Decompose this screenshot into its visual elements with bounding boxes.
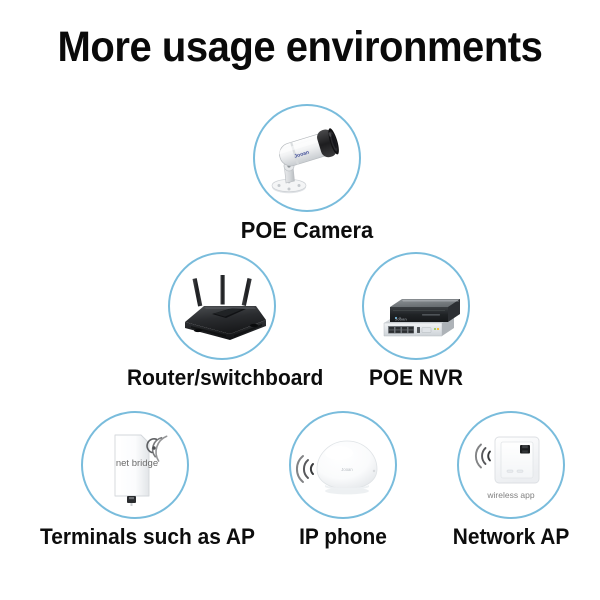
poe-nvr-circle: Jooan <box>362 252 470 360</box>
ip-phone-circle: Jooan <box>289 411 397 519</box>
poe-nvr-rack-icon: Jooan <box>362 252 470 360</box>
item-label: Terminals such as AP <box>40 525 230 548</box>
wifi-router-icon <box>168 252 276 360</box>
svg-text:Jooan: Jooan <box>341 467 353 472</box>
net-bridge-circle: net bridge <box>81 411 189 519</box>
item-label: POE NVR <box>321 366 511 389</box>
item-network-ap[interactable]: wireless app Network AP <box>411 411 600 548</box>
poe-bullet-camera-icon: Jooan <box>253 104 361 212</box>
item-terminals-such-as-ap[interactable]: net bridge Terminals such as AP <box>35 411 235 548</box>
poe-camera-circle: Jooan <box>253 104 361 212</box>
network-ap-circle: wireless app <box>457 411 565 519</box>
ceiling-access-point-icon: Jooan <box>289 411 397 519</box>
item-label: POE Camera <box>212 218 402 242</box>
item-poe-nvr[interactable]: Jooan POE NVR <box>316 252 516 389</box>
item-router-switchboard[interactable]: Router/switchboard <box>122 252 322 389</box>
svg-text:Jooan: Jooan <box>395 317 407 322</box>
net-bridge-device-caption: net bridge <box>83 458 191 469</box>
item-label: Network AP <box>416 525 600 548</box>
item-label: IP phone <box>248 525 438 548</box>
wall-plate-device-caption: wireless app <box>457 490 565 500</box>
poster-canvas: More usage environments <box>0 0 600 600</box>
router-circle <box>168 252 276 360</box>
page-title: More usage environments <box>21 26 579 69</box>
wall-plate-access-point-icon <box>457 411 565 519</box>
item-poe-camera[interactable]: Jooan POE Camera <box>207 104 407 242</box>
item-label: Router/switchboard <box>127 366 317 389</box>
